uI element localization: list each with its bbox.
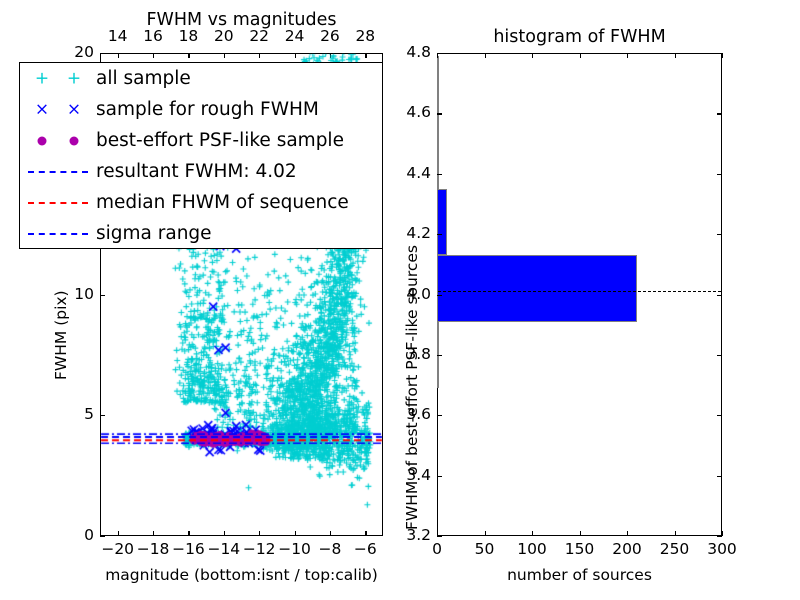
legend-entry-label: best-effort PSF-like sample (96, 130, 344, 151)
histogram-y-tick (437, 415, 442, 416)
histogram-x-tick (722, 531, 723, 536)
histogram-y-axis-label: FWHM of best-effort PSF-like sources (403, 245, 421, 530)
legend-marker-cross-marker: ×× (20, 94, 96, 125)
histogram-x-tick-top (722, 53, 723, 58)
histogram-y-tick-right (717, 113, 722, 114)
legend-entry: ++all sample (20, 63, 382, 94)
histogram-y-tick (437, 174, 442, 175)
legend-entry-label: median FHWM of sequence (96, 192, 349, 213)
histogram-x-tick-top (532, 53, 533, 58)
histogram-x-tick-label: 0 (412, 540, 462, 558)
legend-entry-label: resultant FWHM: 4.02 (96, 161, 297, 182)
legend-entry-label: sample for rough FWHM (96, 99, 319, 120)
legend-entry: sigma range (20, 218, 382, 249)
legend-marker-dashed-line (20, 156, 96, 187)
legend-dashed-line (28, 202, 88, 204)
histogram-x-tick (627, 531, 628, 536)
histogram-x-tick-label: 250 (650, 540, 700, 558)
histogram-title: histogram of FWHM (437, 27, 722, 47)
histogram-y-tick-right (717, 174, 722, 175)
histogram-y-tick (437, 476, 442, 477)
histogram-y-tick (437, 113, 442, 114)
legend-plus-marker: + (67, 70, 81, 87)
histogram-x-tick-label: 100 (507, 540, 557, 558)
legend-plus-marker: + (35, 70, 49, 87)
legend-dashdot-line (28, 233, 88, 235)
histogram-x-tick (580, 531, 581, 536)
legend-entry: ××sample for rough FWHM (20, 94, 382, 125)
histogram-y-tick-right (717, 355, 722, 356)
legend-entry: resultant FWHM: 4.02 (20, 156, 382, 187)
figure-canvas: FWHM vs magnitudes 1416182022242628 −20−… (0, 0, 800, 600)
legend-circle-marker (38, 136, 47, 145)
histogram-x-tick (485, 531, 486, 536)
legend-marker-plus-marker: ++ (20, 63, 96, 94)
histogram-x-tick-top (580, 53, 581, 58)
histogram-x-tick (675, 531, 676, 536)
histogram-y-tick-label: 4.2 (379, 224, 431, 242)
histogram-y-tick (437, 295, 442, 296)
histogram-y-tick-right (717, 415, 722, 416)
legend-entry-label: all sample (96, 68, 191, 89)
histogram-y-tick-label: 4.4 (379, 164, 431, 182)
histogram-y-tick-label: 4.8 (379, 43, 431, 61)
histogram-x-tick-top (485, 53, 486, 58)
legend-dashed-line (28, 171, 88, 173)
histogram-x-tick-label: 300 (697, 540, 747, 558)
legend-cross-marker: × (67, 101, 81, 118)
histogram-x-tick-top (437, 53, 438, 58)
histogram-x-tick-top (627, 53, 628, 58)
legend-cross-marker: × (35, 101, 49, 118)
chart-legend: ++all sample××sample for rough FWHMbest-… (19, 62, 383, 249)
histogram-y-tick (437, 234, 442, 235)
histogram-y-tick-right (717, 234, 722, 235)
histogram-y-tick-label: 4.6 (379, 103, 431, 121)
legend-entry: median FHWM of sequence (20, 187, 382, 218)
histogram-x-tick (532, 531, 533, 536)
histogram-y-tick (437, 355, 442, 356)
histogram-bar (437, 255, 637, 321)
legend-marker-circle-marker (20, 125, 96, 156)
legend-circle-marker (70, 136, 79, 145)
histogram-x-tick (437, 531, 438, 536)
legend-marker-dashdot-line (20, 218, 96, 249)
histogram-bar (437, 189, 447, 255)
histogram-x-tick-label: 150 (555, 540, 605, 558)
histogram-y-tick-right (717, 295, 722, 296)
legend-entry-label: sigma range (96, 223, 212, 244)
histogram-x-tick-label: 50 (460, 540, 510, 558)
histogram-y-tick (437, 536, 442, 537)
legend-marker-dashed-line (20, 187, 96, 218)
histogram-x-axis-label: number of sources (437, 566, 722, 584)
legend-entry: best-effort PSF-like sample (20, 125, 382, 156)
histogram-x-tick-top (675, 53, 676, 58)
histogram-x-tick-label: 200 (602, 540, 652, 558)
histogram-y-tick-right (717, 536, 722, 537)
histogram-median-line (438, 291, 721, 292)
histogram-y-tick-right (717, 476, 722, 477)
histogram-bar (437, 122, 439, 188)
